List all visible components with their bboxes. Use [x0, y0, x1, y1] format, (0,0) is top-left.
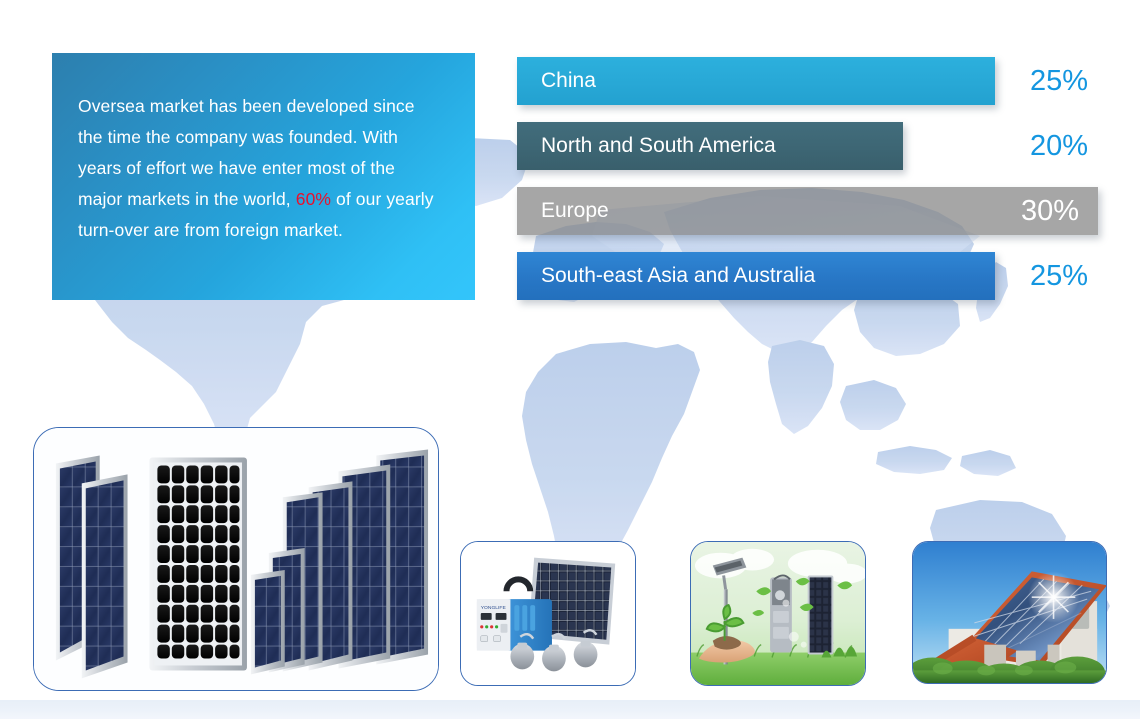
bar-percent-europe: 30%: [1021, 187, 1079, 235]
svg-text:YONGLIFE: YONGLIFE: [481, 605, 507, 611]
bar-percent-north-and-south-america: 20%: [1030, 122, 1088, 170]
bar-percent-south-east-asia-and-australia: 25%: [1030, 252, 1088, 300]
oversea-market-text-card: Oversea market has been developed since …: [52, 53, 475, 300]
slide-canvas: Oversea market has been developed since …: [0, 0, 1140, 719]
rooftop-solar-house-photo[interactable]: [912, 541, 1107, 684]
bar-percent-china: 25%: [1030, 57, 1088, 105]
bar-label-south-east-asia-and-australia: South-east Asia and Australia: [541, 252, 815, 300]
bar-row-south-east-asia-and-australia: South-east Asia and Australia 25%: [517, 252, 1117, 300]
solar-panel-lineup-photo[interactable]: [33, 427, 439, 691]
bar-row-china: China 25%: [517, 57, 1117, 105]
bar-row-europe: Europe 30%: [517, 187, 1117, 235]
oversea-market-paragraph: Oversea market has been developed since …: [78, 91, 438, 246]
intro-highlight-percent: 60%: [296, 189, 331, 209]
eco-solar-street-light-photo[interactable]: [690, 541, 866, 686]
bar-label-north-and-south-america: North and South America: [541, 122, 776, 170]
solar-generator-kit-photo[interactable]: YONGLIFE: [460, 541, 636, 686]
market-share-bar-chart: China 25% North and South America 20% Eu…: [517, 57, 1117, 300]
bar-label-europe: Europe: [541, 187, 609, 235]
bar-row-north-and-south-america: North and South America 20%: [517, 122, 1117, 170]
bar-label-china: China: [541, 57, 596, 105]
